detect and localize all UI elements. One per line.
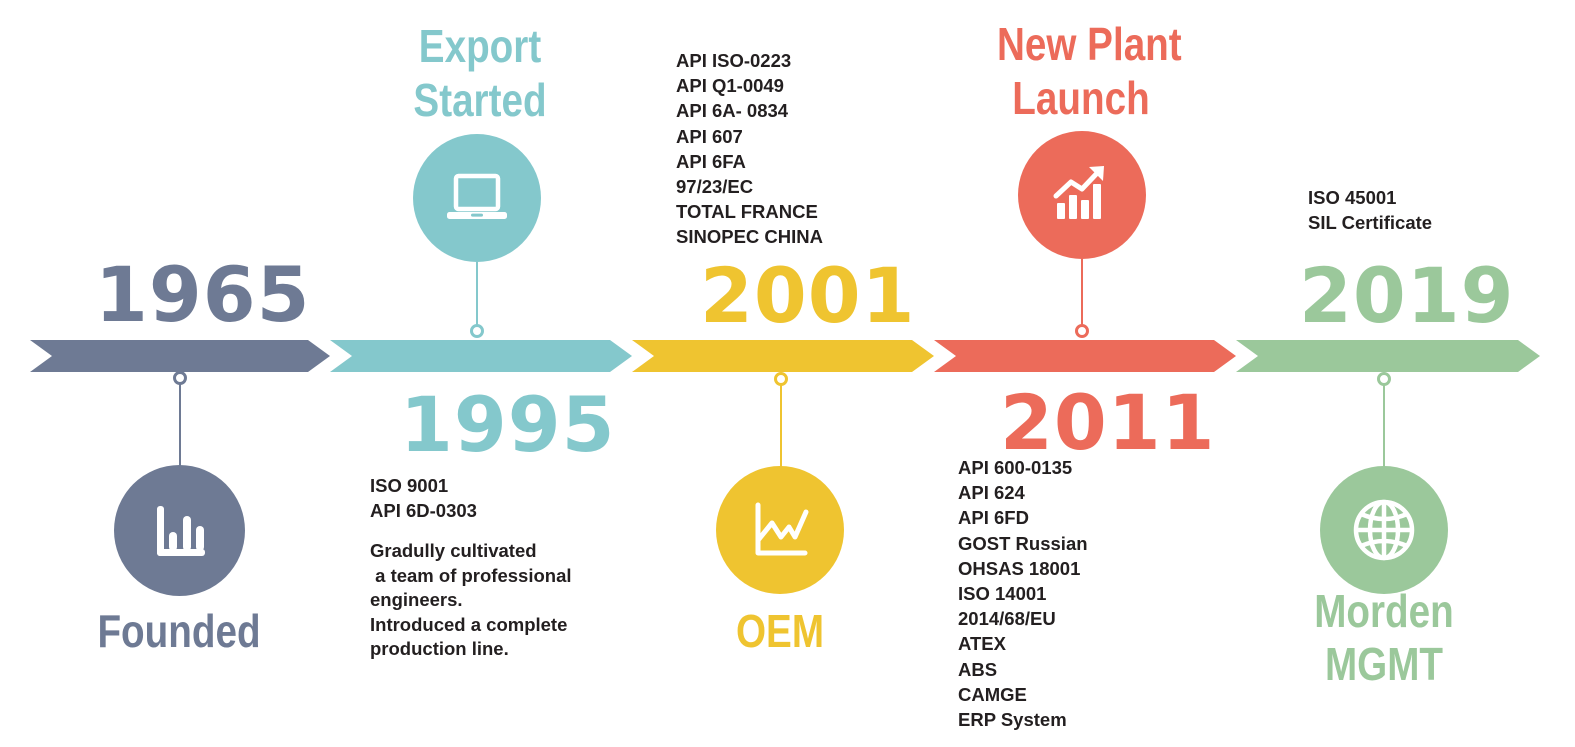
timeline-infographic: 1965 Founded Export Started 1995 ISO 900… [0, 0, 1575, 747]
icon-circle-2001 [716, 466, 844, 594]
connector-ring-1965 [173, 371, 187, 385]
laptop-icon [439, 160, 515, 236]
caption-newplant-line2: Launch [997, 72, 1165, 125]
icon-circle-1965 [114, 465, 245, 596]
timeline-segment-2011 [934, 340, 1236, 372]
connector-2001 [780, 380, 782, 480]
details-2001: API ISO-0223 API Q1-0049 API 6A- 0834 AP… [676, 48, 823, 250]
details-2019: ISO 45001 SIL Certificate [1308, 185, 1432, 235]
caption-morden-line1: Morden [1300, 585, 1468, 638]
year-1995: 1995 [400, 387, 616, 463]
timeline-segment-2019 [1236, 340, 1540, 372]
icon-circle-1995 [413, 134, 541, 262]
connector-1965 [179, 378, 181, 478]
note-1995: Gradully cultivated a team of profession… [370, 539, 572, 662]
icon-circle-2011 [1018, 131, 1146, 259]
year-1965: 1965 [95, 257, 311, 333]
growth-chart-arrow-icon [1044, 157, 1120, 233]
connector-2019 [1383, 380, 1385, 478]
caption-export-line1: Export [396, 20, 564, 73]
timeline-segment-1965 [30, 340, 330, 372]
year-2011: 2011 [1000, 385, 1216, 461]
caption-export-line2: Started [396, 74, 564, 127]
caption-newplant-line1: New Plant [997, 18, 1165, 71]
year-2019: 2019 [1299, 258, 1515, 334]
timeline-segment-2001 [632, 340, 934, 372]
details-2011: API 600-0135 API 624 API 6FD GOST Russia… [958, 455, 1088, 732]
globe-icon [1342, 488, 1426, 572]
connector-2011 [1081, 259, 1083, 334]
connector-ring-1995 [470, 324, 484, 338]
bar-chart-icon [143, 494, 217, 568]
caption-morden-line2: MGMT [1300, 638, 1468, 691]
icon-circle-2019 [1320, 466, 1448, 594]
caption-founded: Founded [95, 605, 263, 658]
connector-ring-2019 [1377, 372, 1391, 386]
line-chart-icon [743, 493, 817, 567]
connector-ring-2001 [774, 372, 788, 386]
timeline-segment-1995 [330, 340, 632, 372]
details-1995: ISO 9001 API 6D-0303 [370, 473, 477, 523]
connector-ring-2011 [1075, 324, 1089, 338]
caption-oem: OEM [696, 605, 864, 658]
year-2001: 2001 [700, 258, 916, 334]
